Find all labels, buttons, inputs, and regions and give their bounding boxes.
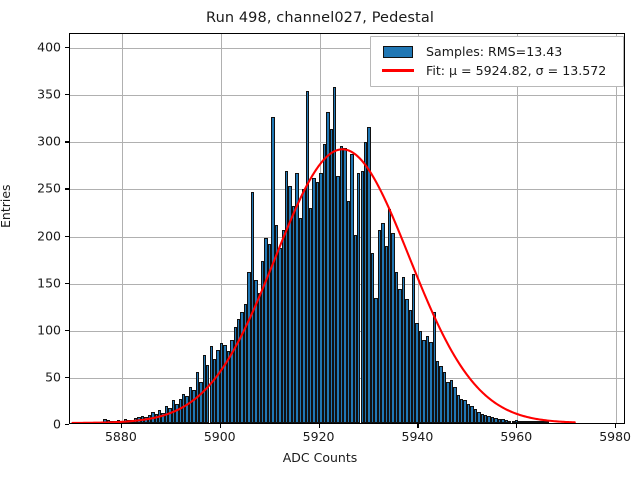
plot-area [69,33,625,424]
x-tick-mark [319,424,320,428]
y-tick-label: 300 [5,134,61,149]
y-tick-label: 150 [5,275,61,290]
y-tick-mark [65,330,69,331]
x-tick-label: 5920 [303,429,335,444]
y-tick-label: 50 [5,369,61,384]
legend-label-samples: Samples: RMS=13.43 [426,44,562,59]
legend-swatch-icon [378,45,418,59]
chart-figure: Run 498, channel027, Pedestal 0501001502… [0,0,640,480]
y-tick-mark [65,424,69,425]
y-tick-mark [65,94,69,95]
y-tick-mark [65,377,69,378]
legend-line-icon [378,64,418,78]
y-tick-mark [65,141,69,142]
x-tick-mark [121,424,122,428]
y-tick-mark [65,283,69,284]
x-tick-label: 5900 [204,429,236,444]
y-tick-label: 200 [5,228,61,243]
y-tick-label: 250 [5,181,61,196]
x-axis-label: ADC Counts [0,450,640,465]
x-tick-label: 5880 [105,429,137,444]
y-tick-mark [65,236,69,237]
legend-label-fit: Fit: μ = 5924.82, σ = 13.572 [426,63,606,78]
x-tick-mark [615,424,616,428]
y-tick-label: 0 [5,417,61,432]
chart-title: Run 498, channel027, Pedestal [0,10,640,26]
y-tick-label: 350 [5,87,61,102]
y-tick-label: 100 [5,322,61,337]
gaussian-fit-curve [70,34,624,423]
x-tick-mark [516,424,517,428]
x-tick-mark [220,424,221,428]
x-tick-label: 5960 [500,429,532,444]
y-axis-label: Entries [0,184,13,228]
y-tick-mark [65,188,69,189]
legend-item-samples: Samples: RMS=13.43 [378,42,616,61]
legend-item-fit: Fit: μ = 5924.82, σ = 13.572 [378,61,616,80]
chart-legend: Samples: RMS=13.43 Fit: μ = 5924.82, σ =… [370,36,624,87]
x-tick-label: 5940 [402,429,434,444]
y-tick-label: 400 [5,40,61,55]
x-tick-label: 5980 [599,429,631,444]
y-tick-mark [65,47,69,48]
x-tick-mark [417,424,418,428]
